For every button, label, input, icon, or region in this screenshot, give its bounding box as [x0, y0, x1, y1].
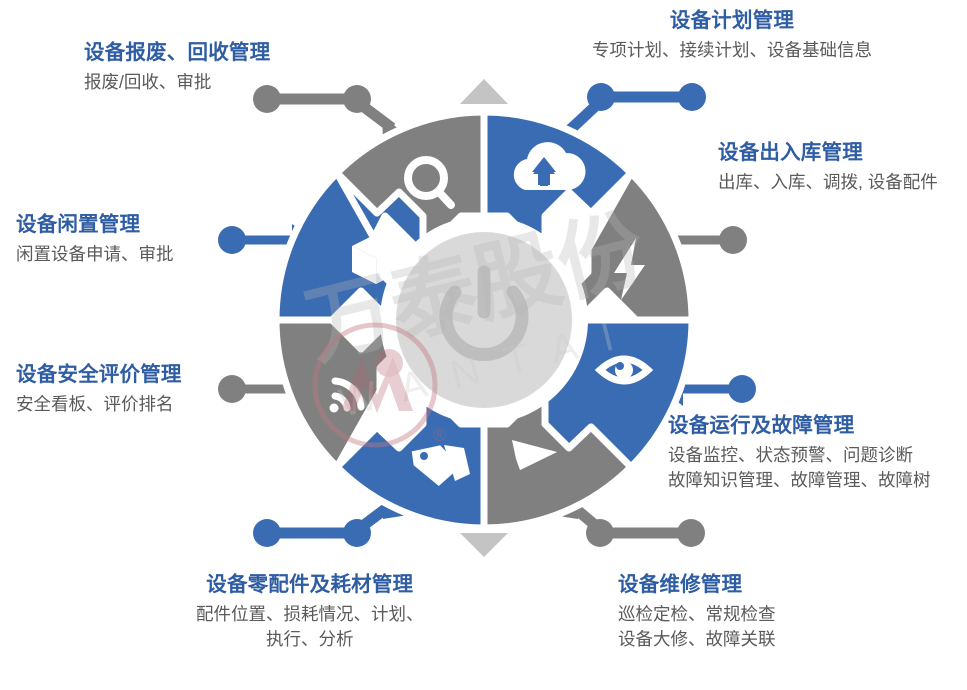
callout-repair-title: 设备维修管理: [618, 572, 776, 598]
callout-idle-sub: 闲置设备申请、审批: [16, 242, 174, 267]
callout-parts: 设备零配件及耗材管理 配件位置、损耗情况、计划、 执行、分析: [196, 572, 424, 652]
callout-idle: 设备闲置管理 闲置设备申请、审批: [16, 212, 174, 267]
callout-safety: 设备安全评价管理 安全看板、评价排名: [16, 362, 182, 417]
callout-safety-sub: 安全看板、评价排名: [16, 392, 182, 417]
callout-parts-title: 设备零配件及耗材管理: [196, 572, 424, 598]
triangle-up-icon: [460, 79, 508, 104]
callout-scrap-sub-1: 报废/回收、审批: [84, 70, 270, 95]
triangle-down-icon: [460, 533, 508, 557]
hub-disc: [396, 232, 572, 408]
callout-warehouse: 设备出入库管理 出库、入库、调拨, 设备配件: [718, 140, 938, 195]
callout-parts-sub: 配件位置、损耗情况、计划、 执行、分析: [196, 602, 424, 653]
callout-safety-title: 设备安全评价管理: [16, 362, 182, 388]
callout-parts-sub-1: 配件位置、损耗情况、计划、: [196, 602, 424, 627]
callout-idle-title: 设备闲置管理: [16, 212, 174, 238]
callout-repair-sub: 巡检定检、常规检查 设备大修、故障关联: [618, 602, 776, 653]
callout-plan-sub: 专项计划、接续计划、设备基础信息: [592, 38, 872, 63]
callout-scrap-sub: 报废/回收、审批: [84, 70, 270, 95]
connector-scrap: [253, 85, 408, 140]
callout-operation: 设备运行及故障管理 设备监控、状态预警、问题诊断 故障知识管理、故障管理、故障树: [668, 413, 931, 493]
infographic-canvas: 万泰股份 WANTAI ® 设备计划管理 专项计划、接续计划、设备基础信息 设备…: [0, 0, 967, 690]
callout-scrap-title: 设备报废、回收管理: [84, 40, 270, 66]
callout-plan-title: 设备计划管理: [592, 8, 872, 34]
callout-warehouse-sub-1: 出库、入库、调拨, 设备配件: [718, 170, 938, 195]
callout-warehouse-sub: 出库、入库、调拨, 设备配件: [718, 170, 938, 195]
callout-warehouse-title: 设备出入库管理: [718, 140, 938, 166]
callout-operation-title: 设备运行及故障管理: [668, 413, 931, 439]
callout-operation-sub: 设备监控、状态预警、问题诊断 故障知识管理、故障管理、故障树: [668, 443, 931, 494]
callout-scrap: 设备报废、回收管理 报废/回收、审批: [84, 40, 270, 95]
callout-plan-sub-1: 专项计划、接续计划、设备基础信息: [592, 38, 872, 63]
callout-plan: 设备计划管理 专项计划、接续计划、设备基础信息: [592, 8, 872, 63]
callout-parts-sub-2: 执行、分析: [196, 627, 424, 652]
wheel-graphic: [0, 0, 967, 690]
callout-operation-sub-1: 设备监控、状态预警、问题诊断: [668, 443, 931, 468]
callout-repair: 设备维修管理 巡检定检、常规检查 设备大修、故障关联: [618, 572, 776, 652]
callout-repair-sub-2: 设备大修、故障关联: [618, 627, 776, 652]
callout-operation-sub-2: 故障知识管理、故障管理、故障树: [668, 468, 931, 493]
callout-repair-sub-1: 巡检定检、常规检查: [618, 602, 776, 627]
callout-safety-sub-1: 安全看板、评价排名: [16, 392, 182, 417]
callout-idle-sub-1: 闲置设备申请、审批: [16, 242, 174, 267]
